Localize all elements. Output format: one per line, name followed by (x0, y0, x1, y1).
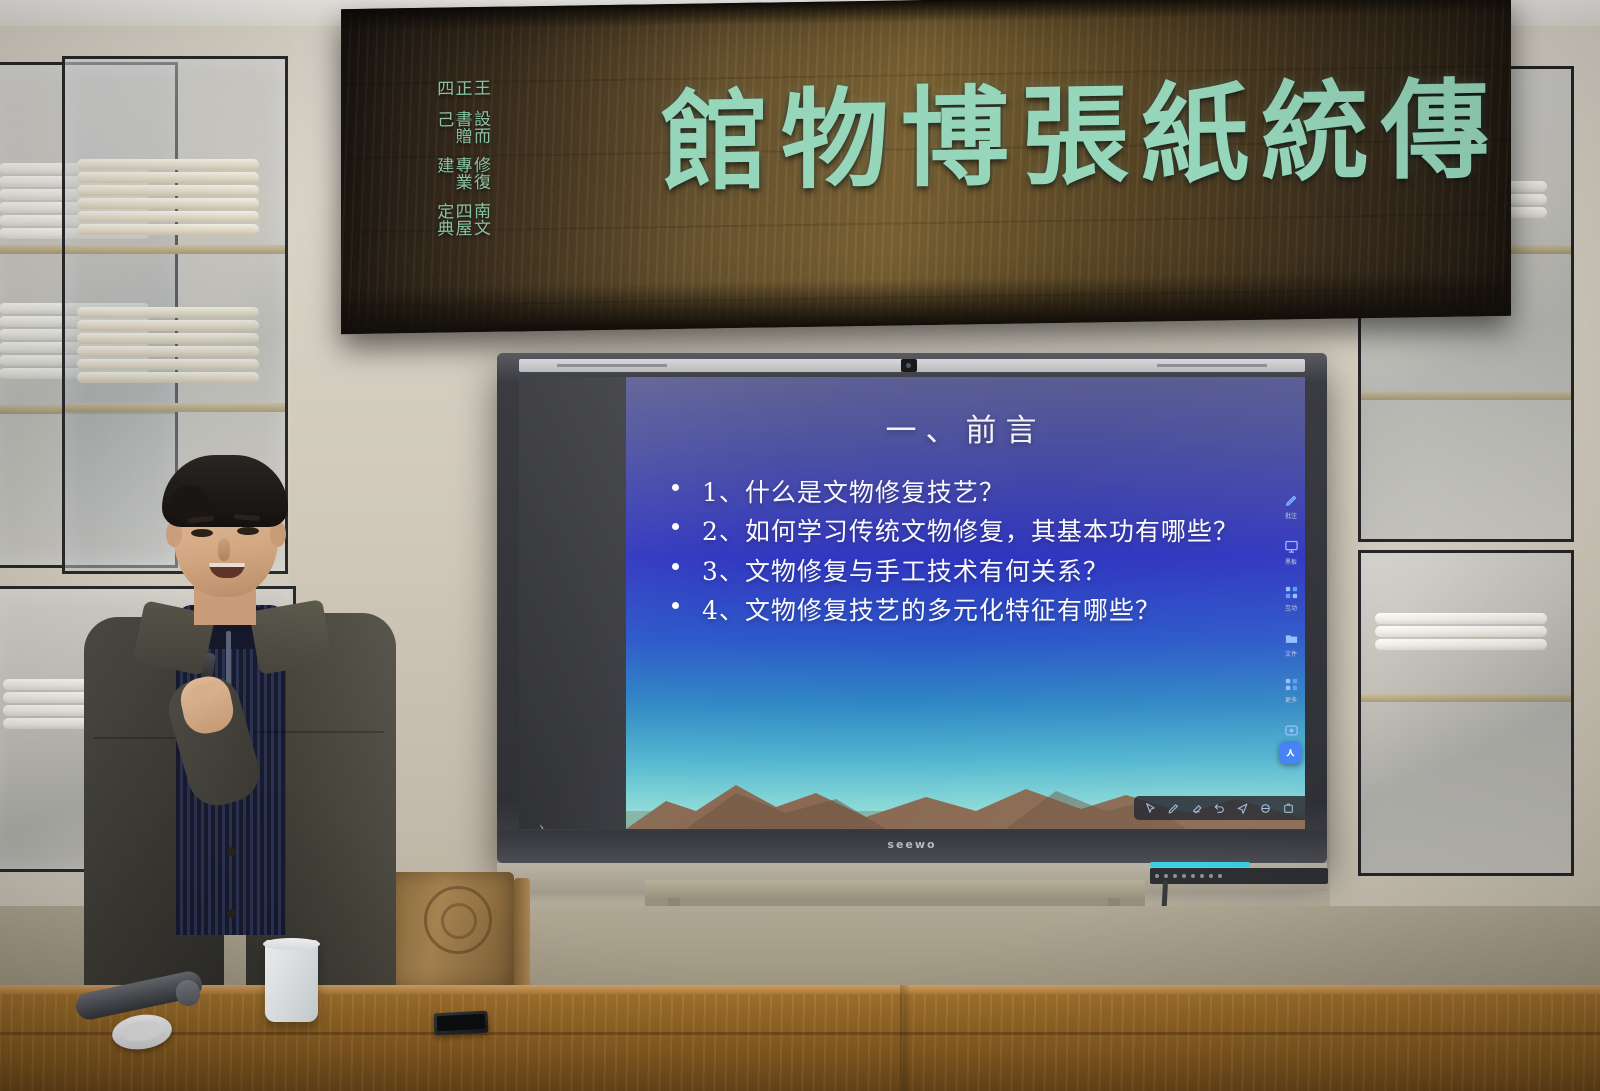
paper-scroll-stack (77, 159, 259, 235)
list-item: 1、什么是文物修复技艺？ (668, 475, 1268, 511)
rail-label: 黑板 (1285, 557, 1297, 566)
table-groove (0, 1032, 1600, 1035)
spotlight-icon[interactable] (1255, 800, 1275, 817)
chair-post (514, 878, 530, 1000)
interactive-whiteboard[interactable]: 一、前言 1、什么是文物修复技艺？ 2、如何学习传统文物修复，其基本功有哪些？ … (497, 353, 1327, 863)
list-item: 4、文物修复技艺的多元化特征有哪些？ (668, 593, 1268, 629)
screen-letterbox-left (519, 377, 626, 829)
bullet-text: 3、文物修复与手工技术有何关系？ (702, 554, 1268, 590)
paper-scroll-stack (77, 307, 259, 383)
list-item: 2、如何学习传统文物修复，其基本功有哪些？ (668, 514, 1268, 550)
bullet-dot-icon (668, 514, 702, 530)
eye-right (237, 527, 259, 535)
inscription-line-4: 王正四 (369, 79, 489, 104)
speaker-presenter (78, 455, 408, 1015)
top-strip-accent-left (557, 364, 667, 367)
eye-left (191, 529, 213, 537)
eraser-icon[interactable] (1186, 800, 1206, 817)
slide-annotation-toolbar[interactable] (1134, 796, 1305, 820)
bullet-text: 4、文物修复技艺的多元化特征有哪些？ (702, 593, 1268, 629)
rail-item-more[interactable]: 更多 (1283, 676, 1300, 704)
undo-icon[interactable] (1209, 800, 1229, 817)
cup-lid (263, 938, 320, 950)
top-strip-accent-right (1157, 364, 1267, 367)
plaque-char-7: 館 (661, 54, 771, 212)
smartphone[interactable] (433, 1011, 488, 1036)
camera-icon (901, 359, 917, 372)
bullet-text: 1、什么是文物修复技艺？ (702, 475, 1268, 511)
lecture-room-photo: 傳 統 紙 張 博 物 館 南文四屋定典 修復專業建 設而書贈己 王正四 一、前… (0, 0, 1600, 1091)
rail-item-files[interactable]: 文件 (1283, 630, 1300, 658)
rail-item-blackboard[interactable]: 黑板 (1283, 538, 1300, 566)
port-strip[interactable] (1150, 868, 1328, 884)
pen-icon[interactable] (1163, 800, 1183, 817)
inscription-line-3: 設而書贈己 (369, 109, 489, 150)
museum-wooden-plaque: 傳 統 紙 張 博 物 館 南文四屋定典 修復專業建 設而書贈己 王正四 (341, 0, 1511, 334)
cabinet-glass-door-right-lower[interactable] (1358, 550, 1574, 876)
white-cup[interactable] (265, 940, 318, 1022)
whiteboard-stand-top (645, 880, 1145, 898)
table-wood-grain (0, 994, 1600, 1091)
rail-label: 批注 (1285, 511, 1297, 520)
bullet-text: 2、如何学习传统文物修复，其基本功有哪些？ (702, 514, 1268, 550)
plaque-char-1: 傳 (1381, 43, 1491, 201)
nose (218, 539, 230, 561)
select-cursor-icon[interactable] (1140, 800, 1160, 817)
bullet-dot-icon (668, 554, 702, 570)
more-apps-icon (1283, 676, 1300, 693)
annotate-pen-icon (1283, 492, 1300, 509)
plaque-char-2: 統 (1261, 45, 1371, 203)
rail-item-interaction[interactable]: 互动 (1283, 584, 1300, 612)
whiteboard-screen[interactable]: 一、前言 1、什么是文物修复技艺？ 2、如何学习传统文物修复，其基本功有哪些？ … (519, 377, 1305, 829)
table-seam (900, 985, 909, 1091)
rail-label: 文件 (1285, 649, 1297, 658)
rail-label: 更多 (1285, 695, 1297, 704)
port-indicator-bar (1150, 862, 1250, 867)
rail-label: 互动 (1285, 603, 1297, 612)
bullet-dot-icon (668, 475, 702, 491)
screen-record-icon (1283, 722, 1300, 739)
rail-item-annotate[interactable]: 批注 (1283, 492, 1300, 520)
inscription-line-1: 南文四屋定典 (369, 202, 489, 251)
slide-title: 一、前言 (626, 405, 1305, 450)
plaque-inscription: 南文四屋定典 修復專業建 設而書贈己 王正四 (369, 79, 489, 251)
assistant-icon[interactable] (1279, 741, 1302, 764)
plaque-char-3: 紙 (1141, 47, 1251, 205)
bullet-dot-icon (668, 593, 702, 609)
jacket-button (227, 909, 236, 918)
glass-reflection (1361, 553, 1571, 873)
folder-icon (1283, 630, 1300, 647)
interaction-icon (1283, 584, 1300, 601)
paper-scroll-stack (1375, 613, 1547, 650)
presentation-slide[interactable]: 一、前言 1、什么是文物修复技艺？ 2、如何学习传统文物修复，其基本功有哪些？ … (626, 377, 1305, 829)
chevron-right-icon[interactable]: › (539, 819, 544, 829)
jacket-button (227, 847, 236, 856)
hair (162, 455, 288, 527)
slide-bullet-list: 1、什么是文物修复技艺？ 2、如何学习传统文物修复，其基本功有哪些？ 3、文物修… (668, 475, 1268, 632)
table-edge (0, 985, 1600, 994)
jacket-collar-right (249, 599, 333, 675)
plaque-char-4: 張 (1021, 49, 1131, 207)
jacket-seam-right (254, 731, 384, 733)
whiteboard-brand-label: seewo (497, 838, 1327, 851)
plaque-char-5: 博 (901, 51, 1011, 209)
screenshot-icon[interactable] (1278, 800, 1298, 817)
chair-carving (424, 886, 492, 954)
plaque-char-6: 物 (781, 53, 891, 211)
whiteboard-tool-rail[interactable]: 批注 黑板 互动 文件 (1276, 492, 1305, 750)
inscription-line-2: 修復專業建 (369, 156, 489, 197)
laser-pointer-icon[interactable] (1232, 800, 1252, 817)
blackboard-icon (1283, 538, 1300, 555)
plaque-title-calligraphy: 傳 統 紙 張 博 物 館 (491, 46, 1491, 212)
list-item: 3、文物修复与手工技术有何关系？ (668, 554, 1268, 590)
